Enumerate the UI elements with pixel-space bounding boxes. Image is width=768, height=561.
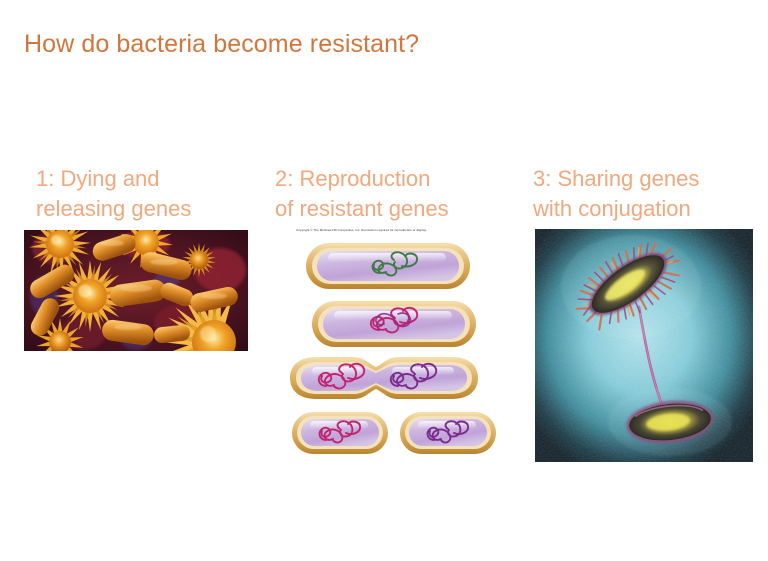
caption-1: 1: Dying and releasing genes bbox=[36, 164, 251, 224]
caption-3-line-1: 3: Sharing genes bbox=[533, 164, 758, 194]
caption-3-line-2: with conjugation bbox=[533, 194, 758, 224]
slide-canvas: How do bacteria become resistant? 1: Dyi… bbox=[0, 0, 768, 561]
caption-2-line-1: 2: Reproduction bbox=[275, 164, 500, 194]
page-title: How do bacteria become resistant? bbox=[24, 30, 419, 59]
mcgraw-hill-copyright: Copyright © The McGraw-Hill Companies, I… bbox=[296, 228, 506, 232]
bacteria-micrograph-photo bbox=[24, 230, 248, 351]
caption-2: 2: Reproduction of resistant genes bbox=[275, 164, 500, 224]
column-dying-releasing: 1: Dying and releasing genes bbox=[36, 164, 251, 224]
caption-3: 3: Sharing genes with conjugation bbox=[533, 164, 758, 224]
column-reproduction: 2: Reproduction of resistant genes bbox=[275, 164, 500, 224]
caption-1-line-2: releasing genes bbox=[36, 194, 251, 224]
caption-2-line-2: of resistant genes bbox=[275, 194, 500, 224]
column-conjugation: 3: Sharing genes with conjugation bbox=[533, 164, 758, 224]
conjugation-micrograph-photo bbox=[535, 229, 753, 462]
binary-fission-diagram bbox=[276, 226, 500, 458]
caption-1-line-1: 1: Dying and bbox=[36, 164, 251, 194]
